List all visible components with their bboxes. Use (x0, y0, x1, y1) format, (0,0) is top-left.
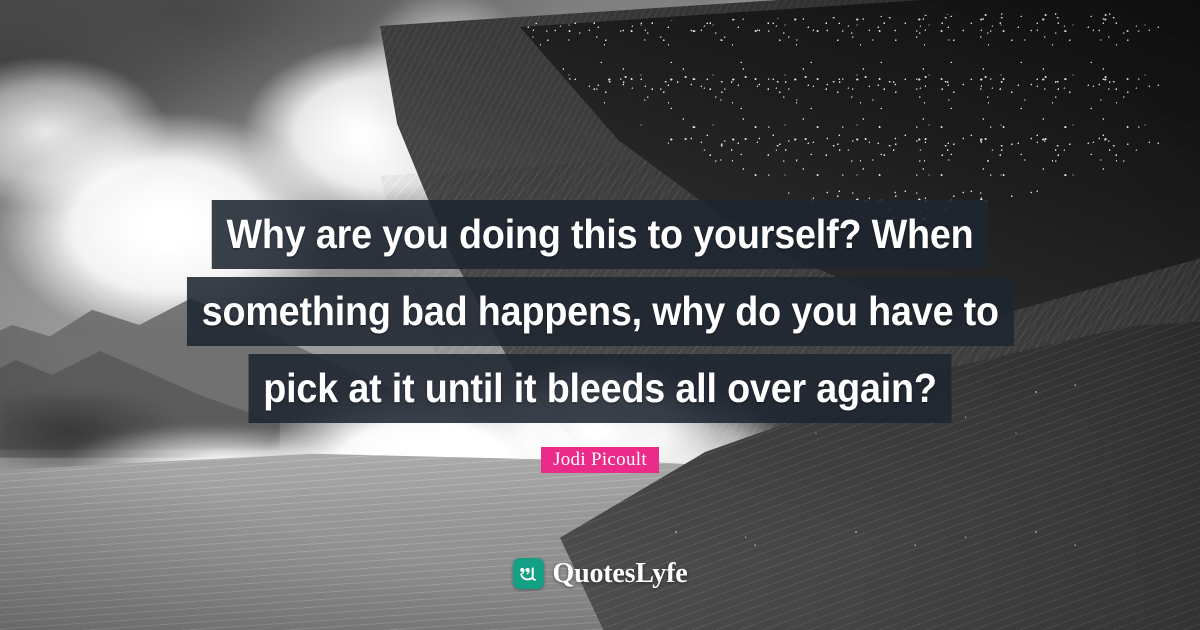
author-name-badge: Jodi Picoult (541, 447, 659, 473)
quote-line-1: Why are you doing this to yourself? When (212, 200, 989, 269)
brand-name: QuotesLyfe (553, 558, 688, 589)
quote-image-canvas: Why are you doing this to yourself? When… (0, 0, 1200, 630)
quote-line-2: something bad happens, why do you have t… (187, 277, 1014, 346)
brand-watermark: QuotesLyfe (0, 558, 1200, 589)
quote-smiley-icon (513, 558, 544, 589)
author-attribution: Jodi Picoult (0, 447, 1200, 473)
quote-line-3: pick at it until it bleeds all over agai… (249, 354, 952, 423)
quote-text-block: Why are you doing this to yourself? When… (0, 200, 1200, 431)
